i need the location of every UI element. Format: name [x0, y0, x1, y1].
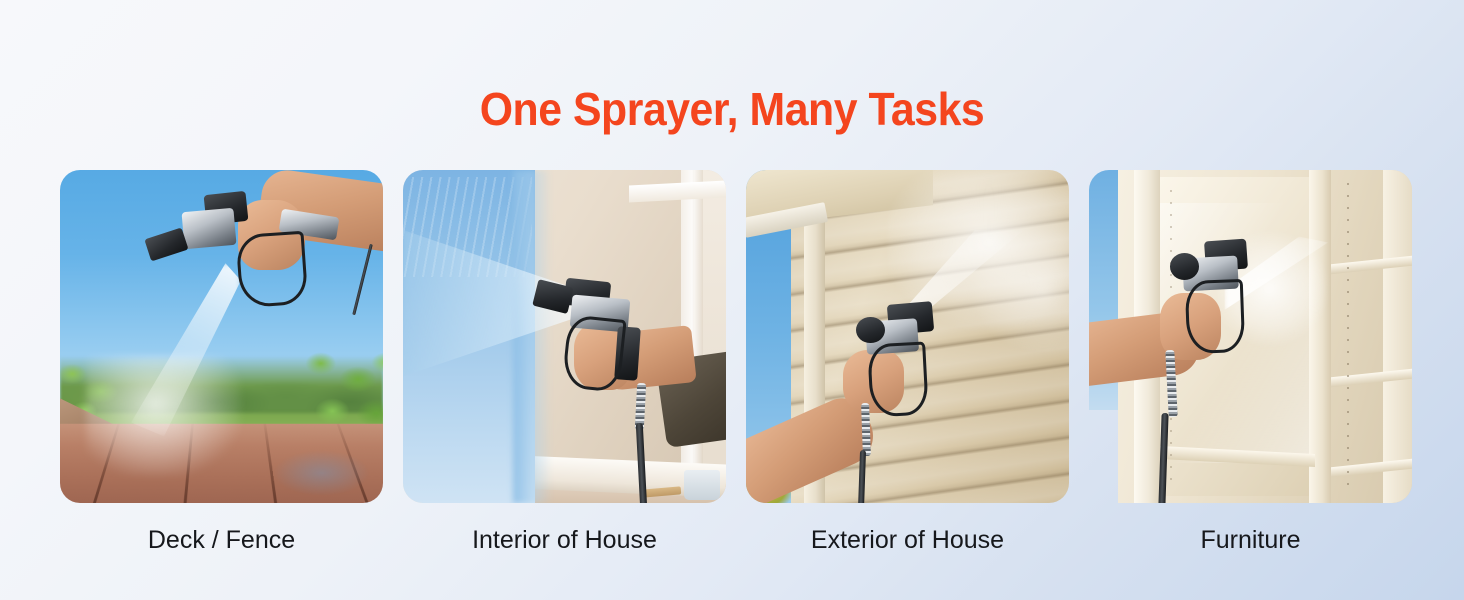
photo-deck-fence	[60, 170, 383, 503]
panel-interior-of-house[interactable]	[403, 170, 726, 503]
panel-deck-fence[interactable]	[60, 170, 383, 503]
panel-furniture[interactable]	[1089, 170, 1412, 503]
paint-bucket	[684, 470, 720, 500]
panel-exterior-of-house[interactable]	[746, 170, 1069, 503]
panel-row	[60, 170, 1404, 503]
shelf-pin-holes	[1347, 183, 1349, 489]
spray-gun-knob	[1170, 253, 1199, 280]
spray-gun-body	[181, 208, 236, 249]
page-title: One Sprayer, Many Tasks	[51, 86, 1413, 132]
photo-interior-of-house	[403, 170, 726, 503]
wet-stain-patch	[273, 450, 370, 497]
caption-interior-of-house: Interior of House	[403, 520, 726, 572]
spray-mist	[86, 356, 241, 476]
caption-exterior-of-house: Exterior of House	[746, 520, 1069, 572]
spray-gun-knob	[856, 317, 885, 344]
caption-deck-fence: Deck / Fence	[60, 520, 383, 572]
trigger-guard	[1185, 279, 1246, 354]
caption-row: Deck / Fence Interior of House Exterior …	[60, 520, 1404, 572]
cabinet-stile-right	[1383, 170, 1412, 503]
photo-exterior-of-house	[746, 170, 1069, 503]
caption-furniture: Furniture	[1089, 520, 1412, 572]
promo-banner: One Sprayer, Many Tasks	[0, 0, 1464, 600]
photo-furniture	[1089, 170, 1412, 503]
